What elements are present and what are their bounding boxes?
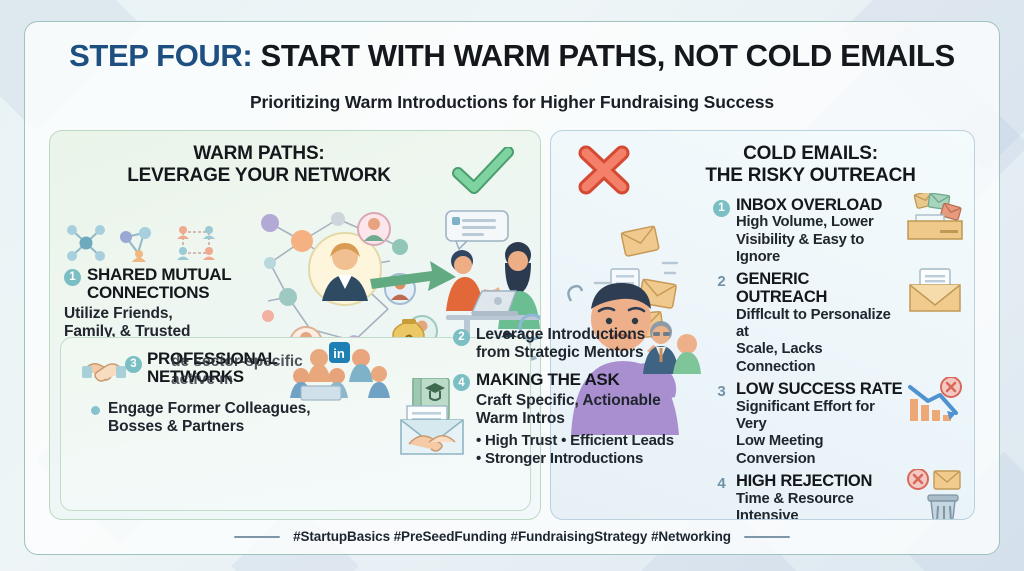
footer: #StartupBasics #PreSeedFunding #Fundrais… <box>49 520 975 544</box>
declining-chart-icon <box>906 377 964 425</box>
item-3-heading-row: 3 PROFESSIONAL NETWORKS de sector-specif… <box>75 350 405 394</box>
item-4-body: Craft Specific, Actionable Warm Intros <box>476 392 674 428</box>
trash-bin-icon <box>906 469 964 520</box>
item-3-overlap-line1: de sector-specific <box>171 353 303 371</box>
page-subtitle: Prioritizing Warm Introductions for High… <box>49 92 975 113</box>
item-1-heading-row: 1 SHARED MUTUAL CONNECTIONS <box>64 266 256 303</box>
inbox-tray-icon <box>906 193 964 241</box>
bullet-dot-icon <box>91 406 100 415</box>
item-2-body: Leverage Introductions from Strategic Me… <box>476 326 645 362</box>
cold-item-1-title: INBOX OVERLOAD <box>736 197 904 215</box>
item-3-bullet-row: Engage Former Colleagues, Bosses & Partn… <box>75 400 405 436</box>
item-4-block: 4 MAKING THE ASK Craft Specific, Actiona… <box>453 371 683 468</box>
cold-emails-list: 1 INBOX OVERLOAD High Volume, Lower Visi… <box>713 197 966 520</box>
item-3-number-badge: 3 <box>125 356 142 373</box>
connected-users-icon <box>170 223 222 263</box>
item-2-line2: from Strategic Mentors <box>476 344 645 362</box>
open-envelope-icon <box>906 267 964 313</box>
title-main-label: START WITH WARM PATHS, NOT COLD EMAILS <box>261 38 955 73</box>
cold-item-4-line1: Time & Resource Intensive <box>736 491 904 520</box>
bin <box>928 495 958 520</box>
footer-divider-left <box>234 536 280 538</box>
node-cluster-icon <box>64 223 108 263</box>
cold-item-3-line2: Low Meeting Conversion <box>736 433 904 468</box>
cold-item-3-number: 3 <box>713 383 730 400</box>
professional-networks-block: 3 PROFESSIONAL NETWORKS de sector-specif… <box>75 350 405 436</box>
cold-item-4-number: 4 <box>713 475 730 492</box>
item-1-body-line1: Utilize Friends, <box>64 305 256 323</box>
svg-text:in: in <box>333 346 345 361</box>
footer-hashtags: #StartupBasics #PreSeedFunding #Fundrais… <box>293 529 731 544</box>
item-4-bullet-line1: • High Trust • Efficient Leads <box>476 432 674 450</box>
warm-paths-heading-line1: WARM PATHS: <box>50 143 468 165</box>
cold-item-3-line1: Significant Effort for Very <box>736 399 904 434</box>
item-3-bullet-text: Engage Former Colleagues, Bosses & Partn… <box>108 400 311 436</box>
cold-item-3: 3 LOW SUCCESS RATE Significant Effort fo… <box>713 381 966 468</box>
item-4-bullets: • High Trust • Efficient Leads • Stronge… <box>476 432 674 468</box>
page-title: STEP FOUR: START WITH WARM PATHS, NOT CO… <box>49 40 975 73</box>
cold-item-1-number-badge: 1 <box>713 200 730 217</box>
item-3-bullet-line2: Bosses & Partners <box>108 418 311 436</box>
mentor-pair-icon <box>639 318 703 374</box>
network-icon-row <box>64 223 256 263</box>
item-1-title-line1: SHARED MUTUAL <box>87 266 231 285</box>
item-1-title: SHARED MUTUAL CONNECTIONS <box>87 266 231 303</box>
professional-group-icon: in <box>285 342 405 404</box>
red-cross-icon <box>573 143 635 202</box>
warm-paths-heading-line2: LEVERAGE YOUR NETWORK <box>50 165 468 187</box>
item-4-line1: Craft Specific, Actionable <box>476 392 674 410</box>
item-3-bullet-line1: Engage Former Colleagues, <box>108 400 311 418</box>
cold-item-2-line1: Difflcult to Personalize at <box>736 307 904 342</box>
cold-item-2-title: GENERIC OUTREACH <box>736 271 904 307</box>
cold-item-1-line2: Visibility & Easy to Ignore <box>736 232 904 267</box>
cold-item-3-title: LOW SUCCESS RATE <box>736 381 904 399</box>
cold-item-2: 2 GENERIC OUTREACH Difflcult to Personal… <box>713 271 966 376</box>
avatar-node <box>358 213 390 245</box>
infographic-card: STEP FOUR: START WITH WARM PATHS, NOT CO… <box>24 21 1000 555</box>
item-1-number-badge: 1 <box>64 269 81 286</box>
item-3-overlap-text: de sector-specific active m <box>171 353 303 390</box>
cold-item-2-line2: Scale, Lacks Connection <box>736 341 904 376</box>
item-4-title: MAKING THE ASK <box>476 371 674 390</box>
cold-item-1: 1 INBOX OVERLOAD High Volume, Lower Visi… <box>713 197 966 267</box>
cold-item-4: 4 HIGH REJECTION Time & Resource Intensi… <box>713 473 966 520</box>
title-step-label: STEP FOUR: <box>69 38 252 73</box>
cold-item-4-title: HIGH REJECTION <box>736 473 904 491</box>
comparison-panels: WARM PATHS: LEVERAGE YOUR NETWORK <box>49 130 975 520</box>
cold-emails-heading-line1: COLD EMAILS: <box>647 143 974 165</box>
middle-column: 2 Leverage Introductions from Strategic … <box>453 326 683 469</box>
cold-item-1-line1: High Volume, Lower <box>736 214 904 231</box>
footer-divider-right <box>744 536 790 538</box>
item-2-number-badge: 2 <box>453 329 470 346</box>
graduation-letter-handshake-icon <box>399 378 471 458</box>
item-3-overlap-line2: active m <box>171 371 303 389</box>
item-2-line1: Leverage Introductions <box>476 326 645 344</box>
item-1-title-line2: CONNECTIONS <box>87 284 231 303</box>
cold-item-2-number: 2 <box>713 273 730 290</box>
item-4-line2: Warm Intros <box>476 410 674 428</box>
item-4-bullet-line2: • Stronger Introductions <box>476 450 674 468</box>
people-network-icon <box>116 223 162 263</box>
cold-emails-heading-line2: THE RISKY OUTREACH <box>647 165 974 187</box>
